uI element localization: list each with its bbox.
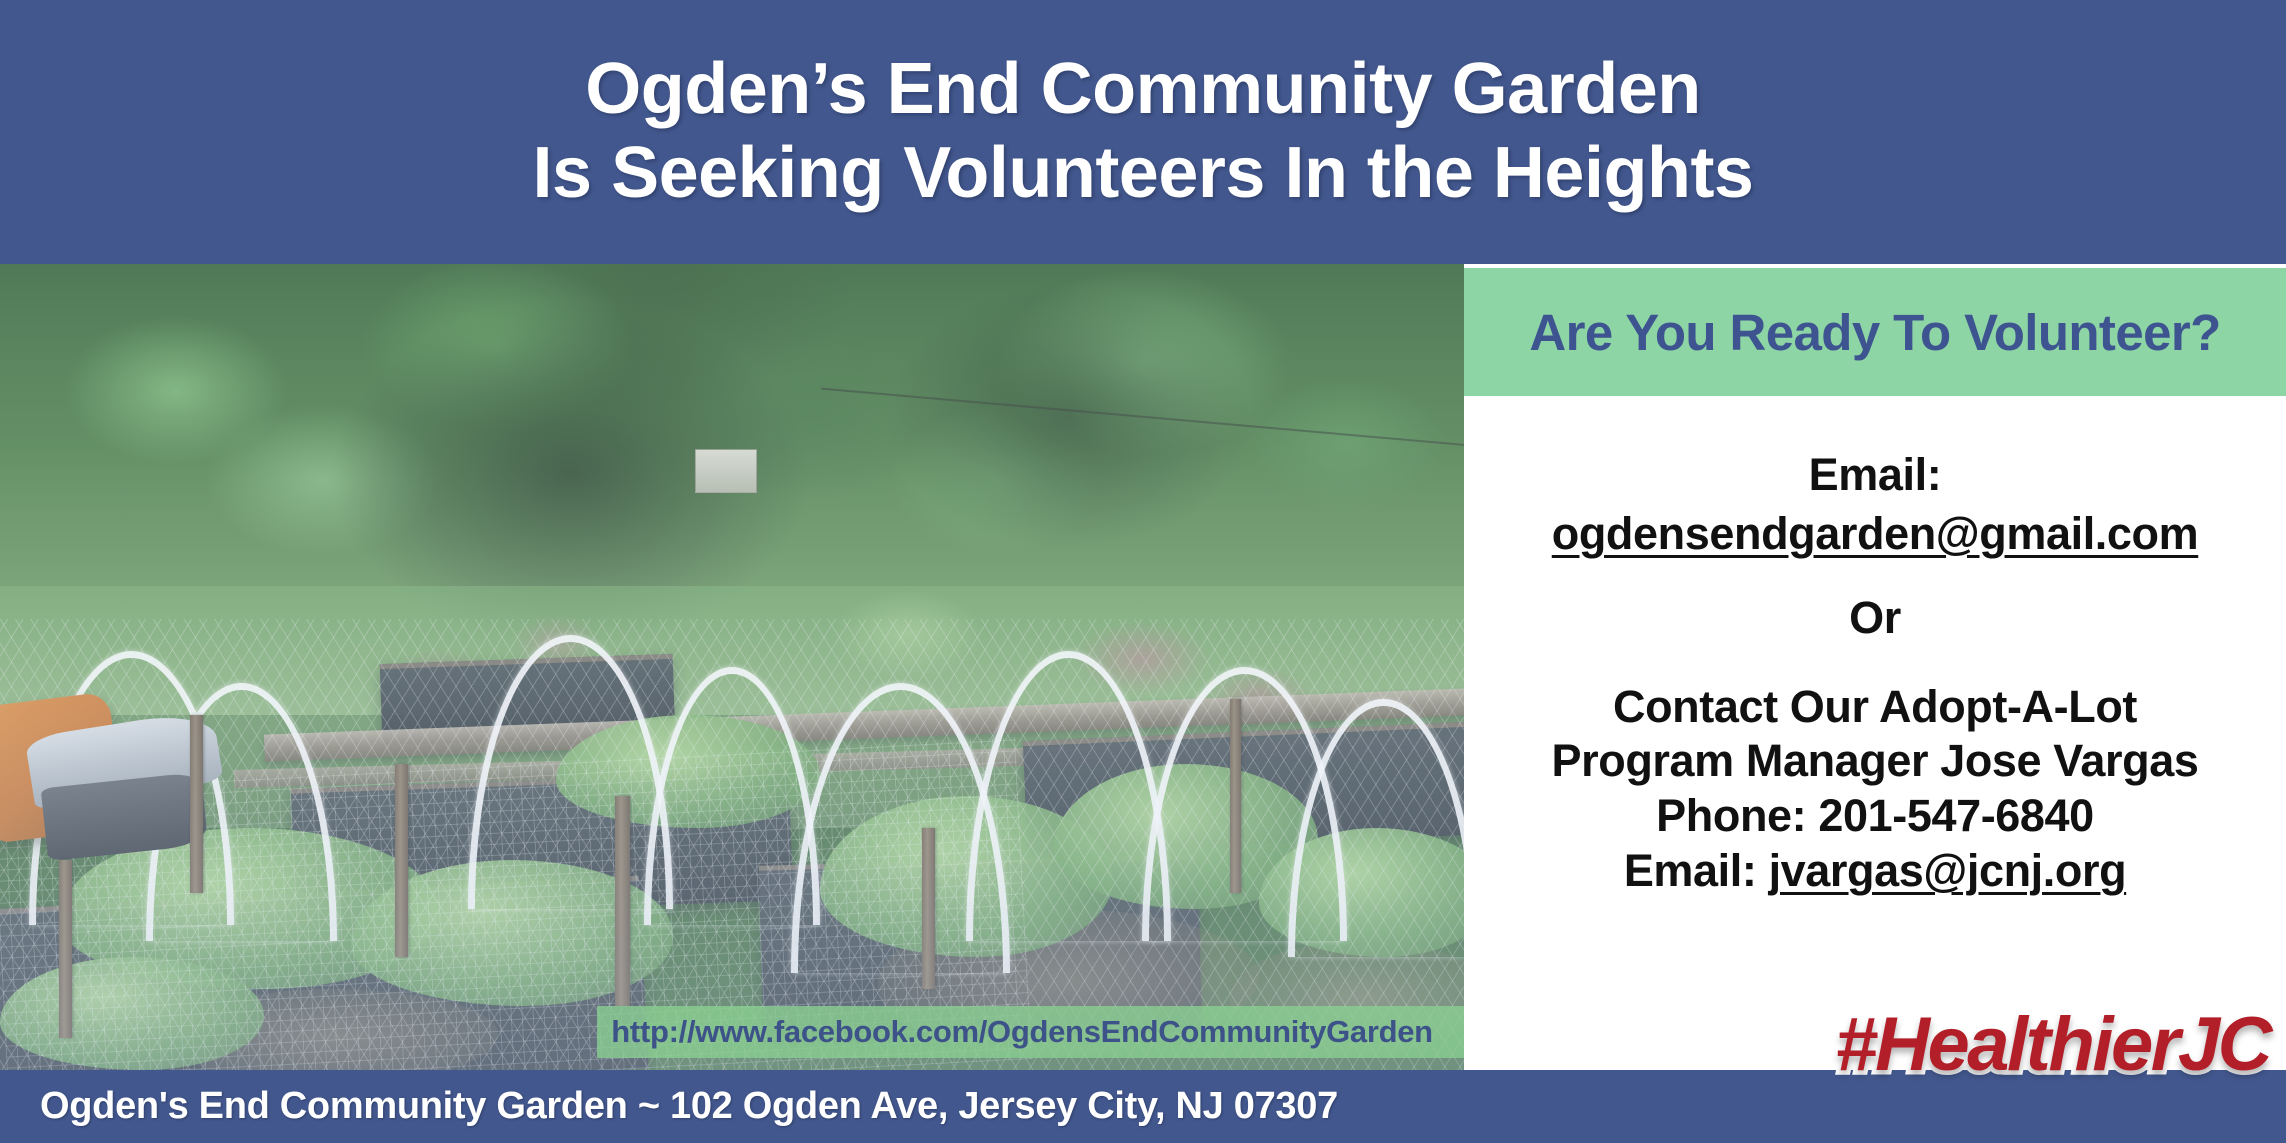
healthierjc-logo-text: #HealthierJC xyxy=(1835,1002,2270,1087)
program-manager-group: Contact Our Adopt-A-Lot Program Manager … xyxy=(1480,680,2270,900)
flyer-poster: Ogden’s End Community Garden Is Seeking … xyxy=(0,0,2286,1143)
volunteer-banner: Are You Ready To Volunteer? xyxy=(1464,268,2286,396)
footer-address-text: Ogden's End Community Garden ~ 102 Ogden… xyxy=(0,1085,1338,1128)
fence-post-6 xyxy=(1230,699,1242,892)
spacer-2 xyxy=(1480,648,2270,674)
poster-title-line-2: Is Seeking Volunteers In the Heights xyxy=(533,132,1754,216)
phone-number[interactable]: Phone: 201-547-6840 xyxy=(1480,789,2270,844)
healthierjc-logo: #HealthierJC xyxy=(1835,1001,2270,1088)
manager-email-row: Email: jvargas@jcnj.org xyxy=(1480,844,2270,899)
garden-photo-illustration xyxy=(0,264,1464,1070)
garden-sign xyxy=(695,449,756,493)
facebook-url-strip[interactable]: http://www.facebook.com/OgdensEndCommuni… xyxy=(597,1006,1464,1058)
volunteer-banner-text: Are You Ready To Volunteer? xyxy=(1529,303,2220,362)
contact-panel: Are You Ready To Volunteer? Email: ogden… xyxy=(1464,264,2286,1070)
contact-details: Email: ogdensendgarden@gmail.com Or Cont… xyxy=(1464,396,2286,956)
facebook-url-text[interactable]: http://www.facebook.com/OgdensEndCommuni… xyxy=(597,1014,1433,1050)
fence-post-4 xyxy=(59,860,72,1037)
contact-line-1: Contact Our Adopt-A-Lot xyxy=(1480,680,2270,735)
canopy-shadow-right xyxy=(878,280,1259,554)
email-label: Email: xyxy=(1480,446,2270,505)
fence-post-2 xyxy=(395,764,408,957)
or-separator: Or xyxy=(1480,589,2270,648)
fence-post-3 xyxy=(615,796,630,1006)
fence-post-5 xyxy=(922,828,935,989)
poster-title-line-1: Ogden’s End Community Garden xyxy=(585,48,1700,132)
header-banner: Ogden’s End Community Garden Is Seeking … xyxy=(0,0,2286,264)
fence-post-1 xyxy=(190,715,203,892)
garden-photo: http://www.facebook.com/OgdensEndCommuni… xyxy=(0,264,1464,1070)
manager-email-label: Email: xyxy=(1624,845,1769,896)
manager-email-address[interactable]: jvargas@jcnj.org xyxy=(1769,845,2127,896)
garden-email-address[interactable]: ogdensendgarden@gmail.com xyxy=(1480,505,2270,564)
spacer-1 xyxy=(1480,563,2270,589)
contact-line-2: Program Manager Jose Vargas xyxy=(1480,734,2270,789)
